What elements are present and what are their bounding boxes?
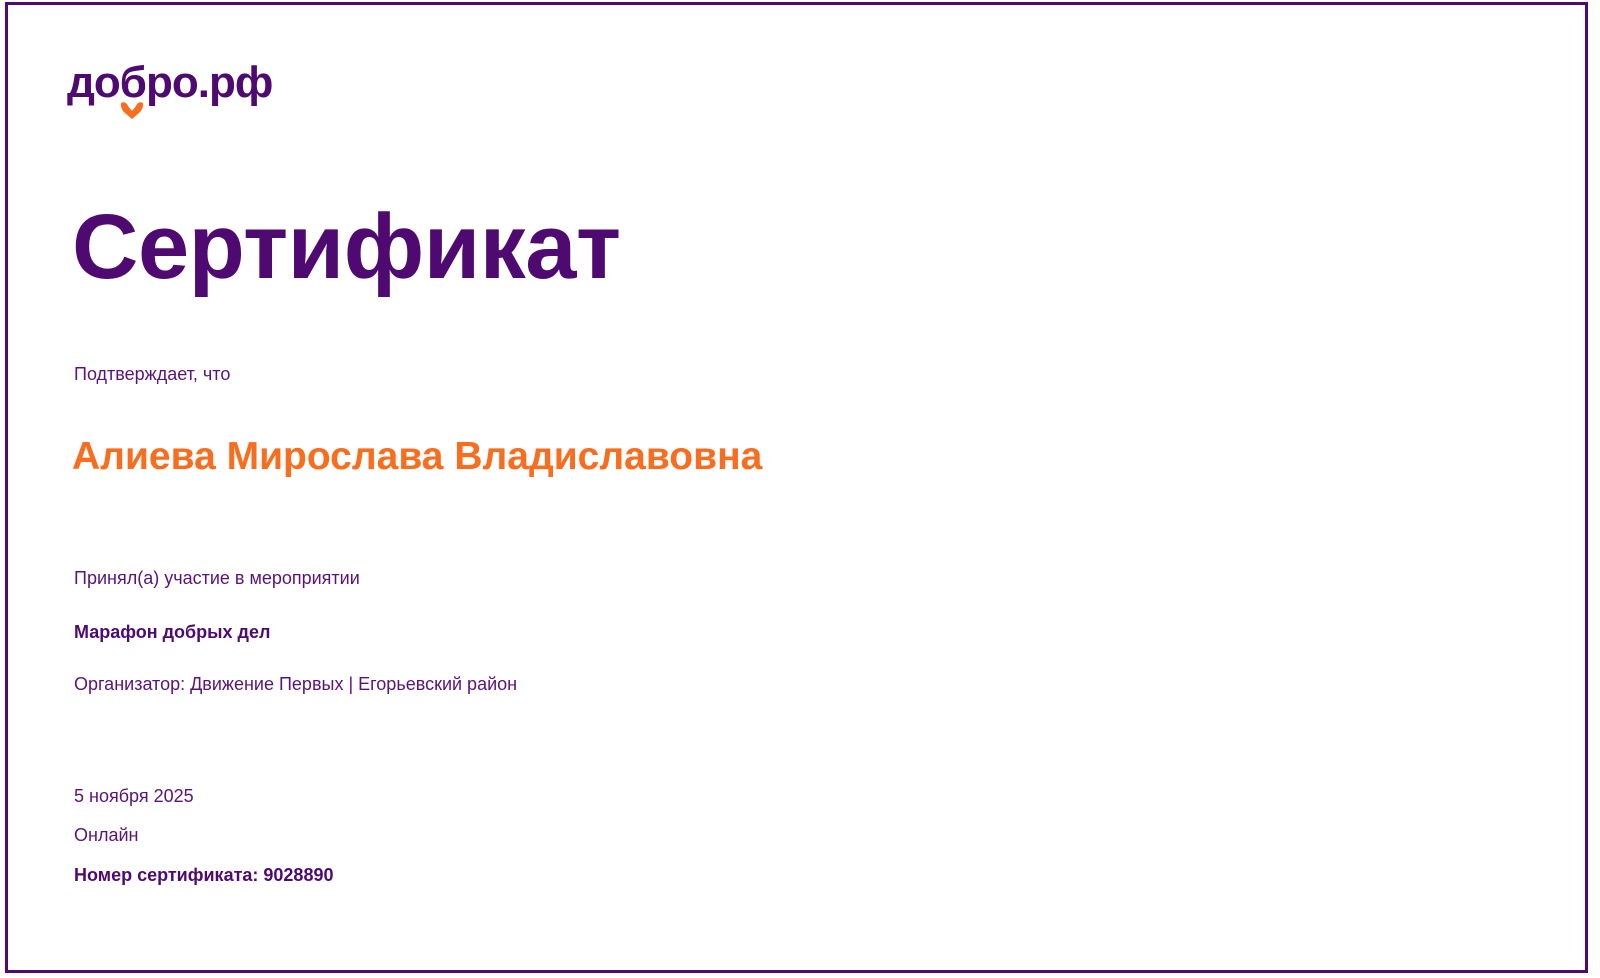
organizer-line: Организатор: Движение Первых | Егорьевск… (74, 672, 517, 696)
certificate-meta: 5 ноября 2025 Онлайн Номер сертификата: … (74, 785, 333, 887)
recipient-name: Алиева Мирослава Владиславовна (72, 424, 832, 490)
heart-icon (119, 101, 145, 121)
brand-logo: добро.рф (67, 61, 272, 123)
certificate-page: добро.рф Сертификат Подтверждает, что Ал… (5, 2, 1588, 973)
lead-line: Подтверждает, что (74, 362, 230, 386)
certificate-date: 5 ноября 2025 (74, 785, 333, 808)
certificate-format: Онлайн (74, 824, 333, 847)
event-name: Марафон добрых дел (74, 620, 270, 644)
certificate-content: добро.рф Сертификат Подтверждает, что Ал… (8, 5, 1585, 970)
page-title: Сертификат (72, 201, 621, 293)
participation-line: Принял(а) участие в мероприятии (74, 566, 360, 590)
brand-logo-text: добро.рф (67, 61, 272, 105)
brand-logo-wordmark: добро.рф (67, 61, 272, 105)
certificate-number: Номер сертификата: 9028890 (74, 864, 333, 887)
